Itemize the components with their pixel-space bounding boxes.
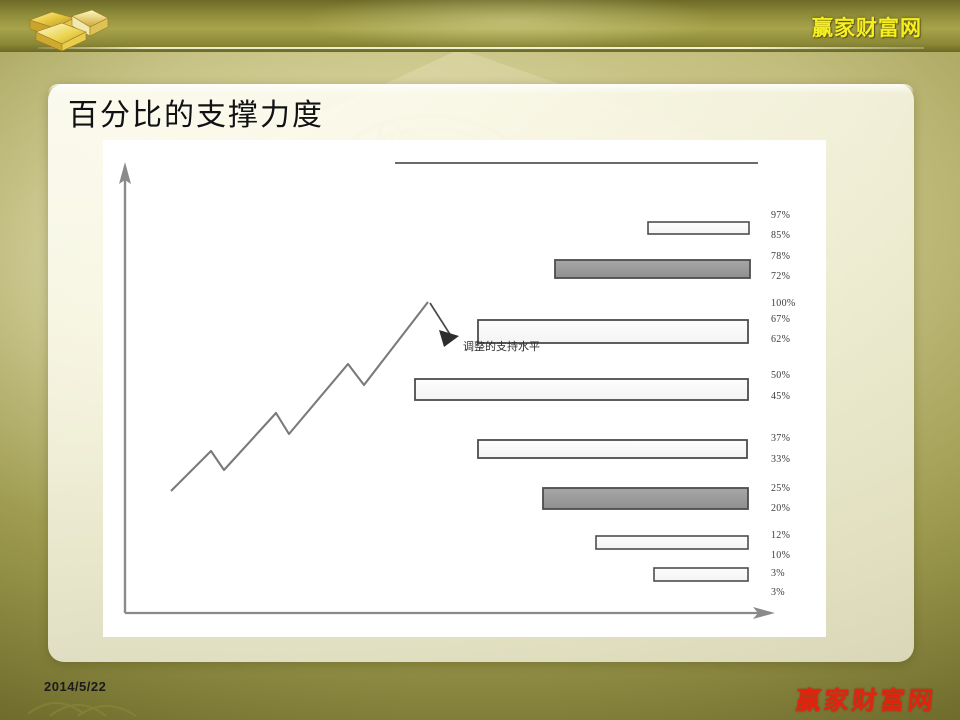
chart-sheet: 调整的支持水平 100% 97% 85% 78% 72% 67% 62% 50%… <box>103 140 826 637</box>
bar-37-33 <box>478 440 747 458</box>
tick-label-67: 67% <box>771 314 790 325</box>
page-title: 百分比的支撑力度 <box>68 90 324 134</box>
tick-label-3-a: 3% <box>771 568 785 579</box>
tick-label-72: 72% <box>771 271 790 282</box>
tick-label-33: 33% <box>771 454 790 465</box>
tick-label-25: 25% <box>771 483 790 494</box>
presentation-slide: GOLD 999.8 50g 777 Credit Suisse <box>0 0 960 720</box>
tick-label-3-b: 3% <box>771 587 785 598</box>
tick-label-50: 50% <box>771 370 790 381</box>
price-zigzag-line <box>171 302 428 491</box>
chart-drawing <box>103 140 826 637</box>
brand-watermark-bottom: 赢家财富网 <box>794 681 938 717</box>
bar-78-72 <box>555 260 750 278</box>
bar-50-45 <box>415 379 748 400</box>
tick-label-45: 45% <box>771 391 790 402</box>
tick-label-100: 100% <box>771 298 796 309</box>
banner-highlight <box>300 0 720 52</box>
tick-label-10: 10% <box>771 550 790 561</box>
brand-watermark-top: 赢家财富网 <box>812 12 922 42</box>
tick-label-12: 12% <box>771 530 790 541</box>
banner-divider <box>38 47 924 49</box>
tick-label-85: 85% <box>771 230 790 241</box>
x-axis <box>125 607 775 619</box>
gold-bars-logo <box>22 6 114 52</box>
bar-25-20 <box>543 488 748 509</box>
tick-label-62: 62% <box>771 334 790 345</box>
tick-label-37: 37% <box>771 433 790 444</box>
tick-label-78: 78% <box>771 251 790 262</box>
y-axis <box>119 162 131 613</box>
bar-3-3 <box>654 568 748 581</box>
tick-label-20: 20% <box>771 503 790 514</box>
bar-12-10 <box>596 536 748 549</box>
tick-label-97: 97% <box>771 210 790 221</box>
annotation-label: 调整的支持水平 <box>463 338 540 354</box>
annotation-arrow-icon <box>430 303 459 347</box>
bar-97-85 <box>648 222 749 234</box>
footer-decoration <box>26 690 146 718</box>
